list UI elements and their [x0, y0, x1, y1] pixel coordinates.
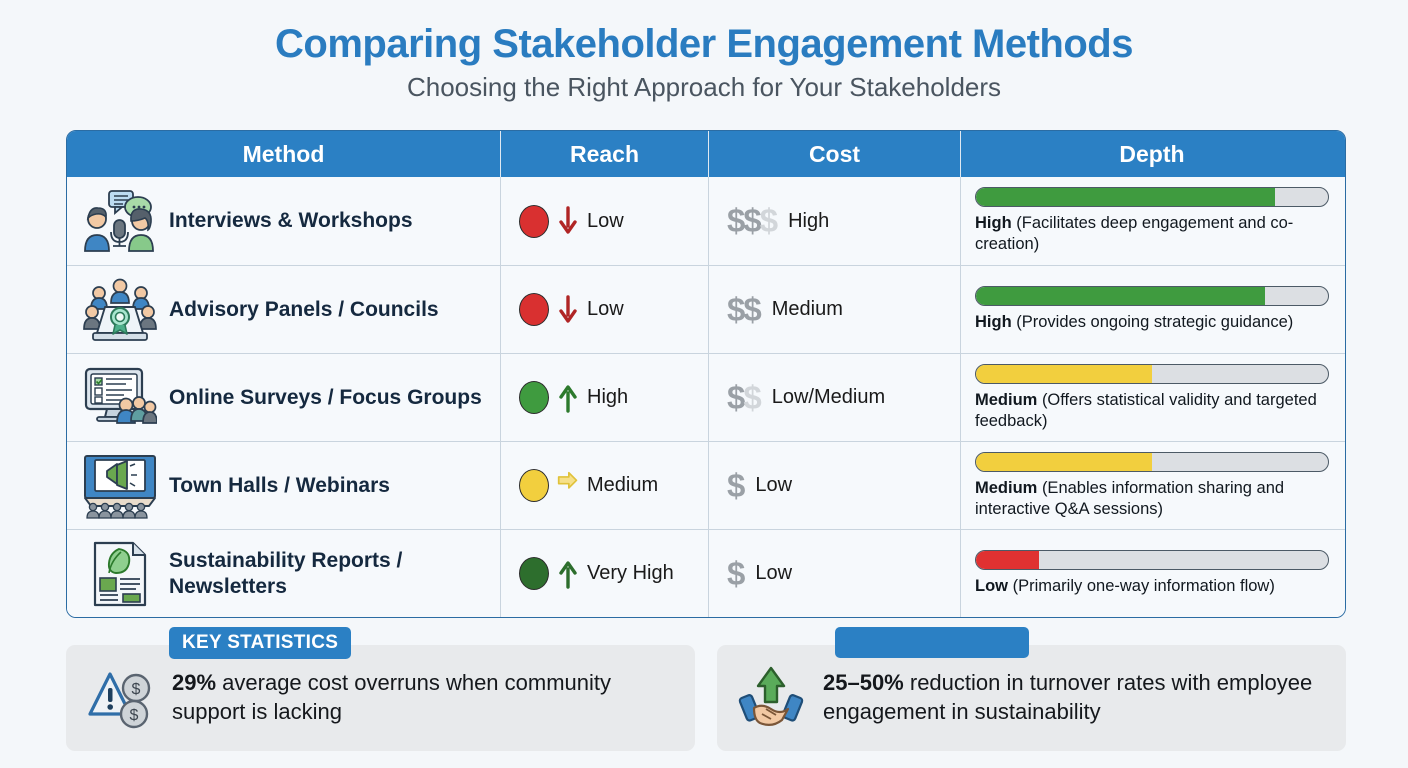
depth-description: Medium (Offers statistical validity and …: [975, 390, 1329, 431]
depth-description: Medium (Enables information sharing and …: [975, 478, 1329, 519]
reach-trend-up-arrow-icon: [557, 559, 579, 589]
reach-label: Low: [587, 298, 624, 321]
method-label: Interviews & Workshops: [169, 208, 413, 234]
table-row: Advisory Panels / Councils Low $$ Medium…: [67, 265, 1345, 353]
cell-cost: $ Low: [709, 530, 961, 617]
cell-method: Online Surveys / Focus Groups: [67, 354, 501, 441]
reach-status-dot: [519, 293, 549, 326]
cell-reach: Very High: [501, 530, 709, 617]
depth-progress-bar: [975, 364, 1329, 384]
depth-progress-bar: [975, 550, 1329, 570]
cost-warning-triangle-icon: $ $: [84, 662, 156, 734]
cell-method: Sustainability Reports / Newsletters: [67, 530, 501, 617]
depth-detail-text: (Facilitates deep engagement and co-crea…: [975, 214, 1293, 253]
depth-description: High (Facilitates deep engagement and co…: [975, 213, 1329, 254]
depth-description: High (Provides ongoing strategic guidanc…: [975, 312, 1329, 333]
stat-panel-cost-overruns: KEY STATISTICS $ $ 29% average cost over…: [66, 645, 695, 751]
depth-detail-text: (Primarily one-way information flow): [1013, 577, 1275, 595]
reach-label: Low: [587, 210, 624, 233]
svg-text:$: $: [132, 681, 141, 698]
depth-level-label: High: [975, 214, 1012, 232]
reach-status-dot: [519, 469, 549, 502]
cell-cost: $$ Medium: [709, 266, 961, 353]
column-header-depth: Depth: [961, 131, 1343, 177]
depth-progress-bar: [975, 286, 1329, 306]
cost-dollar-symbols: $: [727, 467, 743, 505]
table-row: Online Surveys / Focus Groups High $$ Lo…: [67, 353, 1345, 441]
depth-progress-fill: [976, 551, 1039, 569]
cost-dollar-symbols: $$: [727, 379, 760, 417]
cell-depth: Medium (Enables information sharing and …: [961, 442, 1343, 529]
cell-depth: High (Provides ongoing strategic guidanc…: [961, 266, 1343, 353]
comparison-table: Method Reach Cost Depth Interviews & Wor…: [66, 130, 1346, 618]
depth-progress-fill: [976, 287, 1265, 305]
depth-progress-fill: [976, 188, 1275, 206]
stat-body-text: average cost overruns when community sup…: [172, 670, 611, 724]
cost-label: Medium: [772, 298, 843, 321]
column-header-cost: Cost: [709, 131, 961, 177]
stat-highlight-25-50-percent: 25–50%: [823, 670, 904, 695]
depth-progress-fill: [976, 365, 1152, 383]
cost-dollar-symbols: $$$: [727, 202, 776, 240]
cell-method: Advisory Panels / Councils: [67, 266, 501, 353]
reach-label: Medium: [587, 474, 658, 497]
cost-dollar-symbols: $: [727, 555, 743, 593]
reach-trend-down-arrow-icon: [557, 206, 579, 236]
method-label: Sustainability Reports / Newsletters: [169, 548, 490, 599]
key-statistics-section: KEY STATISTICS $ $ 29% average cost over…: [66, 645, 1346, 751]
stat-panel-turnover-reduction: 25–50% reduction in turnover rates with …: [717, 645, 1346, 751]
depth-level-label: Medium: [975, 391, 1037, 409]
svg-text:$: $: [130, 707, 139, 724]
column-header-method: Method: [67, 131, 501, 177]
stat-highlight-29-percent: 29%: [172, 670, 216, 695]
depth-description: Low (Primarily one-way information flow): [975, 576, 1329, 597]
cell-depth: Medium (Offers statistical validity and …: [961, 354, 1343, 441]
depth-progress-bar: [975, 452, 1329, 472]
reach-status-dot: [519, 557, 549, 590]
online-survey-monitor-icon: [83, 365, 157, 431]
table-header-row: Method Reach Cost Depth: [67, 131, 1345, 177]
depth-detail-text: (Provides ongoing strategic guidance): [1016, 313, 1293, 331]
cell-cost: $ Low: [709, 442, 961, 529]
depth-progress-bar: [975, 187, 1329, 207]
method-label: Online Surveys / Focus Groups: [169, 385, 482, 411]
sustainability-report-leaf-icon: [83, 541, 157, 607]
key-statistics-badge: KEY STATISTICS: [169, 627, 351, 659]
depth-progress-fill: [976, 453, 1152, 471]
reach-status-dot: [519, 381, 549, 414]
town-hall-megaphone-icon: [83, 453, 157, 519]
method-label: Town Halls / Webinars: [169, 473, 390, 499]
table-row: Sustainability Reports / Newsletters Ver…: [67, 529, 1345, 617]
reach-label: Very High: [587, 562, 674, 585]
interview-people-speech-icon: [83, 188, 157, 254]
page-header: Comparing Stakeholder Engagement Methods…: [0, 0, 1408, 103]
depth-level-label: Low: [975, 577, 1008, 595]
cell-reach: Medium: [501, 442, 709, 529]
method-label: Advisory Panels / Councils: [169, 297, 439, 323]
cell-reach: Low: [501, 266, 709, 353]
column-header-reach: Reach: [501, 131, 709, 177]
cell-method: Interviews & Workshops: [67, 177, 501, 265]
cell-cost: $$ Low/Medium: [709, 354, 961, 441]
reach-trend-up-arrow-icon: [557, 383, 579, 413]
cost-label: Low/Medium: [772, 386, 885, 409]
cell-reach: Low: [501, 177, 709, 265]
cost-dollar-symbols: $$: [727, 291, 760, 329]
table-row: Interviews & Workshops Low $$$ High High…: [67, 177, 1345, 265]
cost-label: Low: [755, 474, 792, 497]
reach-trend-down-arrow-icon: [557, 295, 579, 325]
reach-label: High: [587, 386, 628, 409]
depth-level-label: Medium: [975, 479, 1037, 497]
page-title: Comparing Stakeholder Engagement Methods: [0, 22, 1408, 66]
table-body: Interviews & Workshops Low $$$ High High…: [67, 177, 1345, 617]
stat-text-cost-overruns: 29% average cost overruns when community…: [172, 669, 677, 726]
reach-status-dot: [519, 205, 549, 238]
cell-depth: High (Facilitates deep engagement and co…: [961, 177, 1343, 265]
cell-cost: $$$ High: [709, 177, 961, 265]
stat-text-turnover-reduction: 25–50% reduction in turnover rates with …: [823, 669, 1328, 726]
advisory-panel-roundtable-icon: [83, 277, 157, 343]
depth-level-label: High: [975, 313, 1012, 331]
cell-method: Town Halls / Webinars: [67, 442, 501, 529]
cost-label: High: [788, 210, 829, 233]
cell-depth: Low (Primarily one-way information flow): [961, 530, 1343, 617]
table-row: Town Halls / Webinars Medium $ Low Mediu…: [67, 441, 1345, 529]
reach-trend-right-arrow-icon: [557, 471, 579, 501]
handshake-growth-arrow-icon: [735, 662, 807, 734]
cell-reach: High: [501, 354, 709, 441]
cost-label: Low: [755, 562, 792, 585]
page-subtitle: Choosing the Right Approach for Your Sta…: [0, 72, 1408, 103]
key-statistics-badge-right: [835, 627, 1029, 658]
